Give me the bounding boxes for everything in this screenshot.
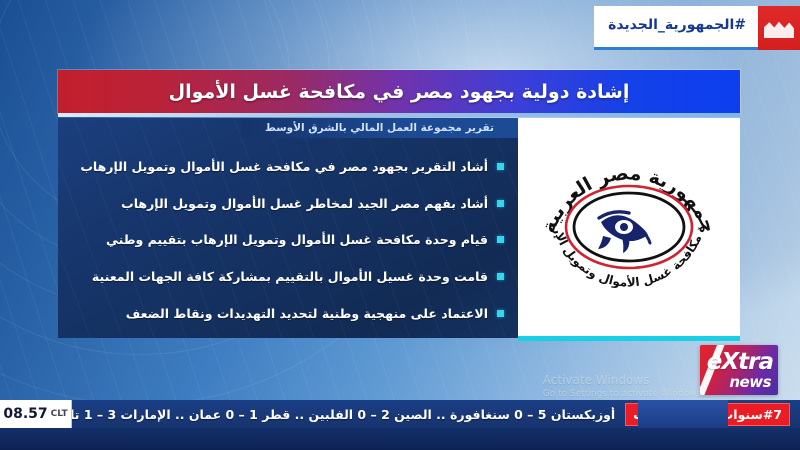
list-item: قيام وحدة مكافحة غسل الأموال وتمويل الإر… bbox=[68, 232, 504, 247]
bottom-band-accent bbox=[638, 400, 728, 428]
bullet-square-icon bbox=[497, 163, 504, 170]
bottom-band bbox=[0, 428, 800, 450]
list-item-label: قيام وحدة مكافحة غسل الأموال وتمويل الإر… bbox=[106, 232, 488, 247]
windows-activation-watermark: Activate Windows Go to Settings to activ… bbox=[543, 372, 704, 400]
page-title: إشادة دولية بجهود مصر في مكافحة غسل الأم… bbox=[169, 81, 630, 103]
top-hashtag-banner: #الجمهورية_الجديدة bbox=[594, 6, 800, 50]
clock-timezone: CLT bbox=[51, 409, 68, 419]
extra-news-logo: eXtra news bbox=[700, 345, 778, 395]
bullet-list: أشاد التقرير بجهود مصر في مكافحة غسل الأ… bbox=[58, 140, 518, 338]
list-item-label: أشاد بفهم مصر الجيد لمخاطر غسل الأموال و… bbox=[121, 196, 488, 211]
headline-title-bar: إشادة دولية بجهود مصر في مكافحة غسل الأم… bbox=[58, 70, 740, 113]
bullets-panel: أشاد التقرير بجهود مصر في مكافحة غسل الأ… bbox=[58, 118, 518, 338]
money-laundering-unit-emblem: جمهورية مصر العربية وحدة مكافحة غسل الأم… bbox=[529, 130, 729, 326]
list-item-label: أشاد التقرير بجهود مصر في مكافحة غسل الأ… bbox=[80, 159, 488, 174]
cyan-accent-strip bbox=[518, 336, 740, 341]
logo-text-secondary: news bbox=[729, 373, 771, 391]
list-item: أشاد بفهم مصر الجيد لمخاطر غسل الأموال و… bbox=[68, 196, 504, 211]
eye-of-horus-icon bbox=[598, 212, 650, 253]
list-item: الاعتماد على منهجية وطنية لتحديد التهديد… bbox=[68, 306, 504, 321]
subtitle-bar: تقرير مجموعة العمل المالي بالشرق الأوسط bbox=[241, 118, 518, 138]
ticker-scores-text: أوزبكستان 5 – 0 سنغافورة .. الصين 2 – 0 … bbox=[0, 407, 615, 422]
bullet-square-icon bbox=[497, 310, 504, 317]
bullet-square-icon bbox=[497, 236, 504, 243]
title-underline bbox=[58, 113, 740, 117]
list-item: قامت وحدة غسيل الأموال بالتقييم بمشاركة … bbox=[68, 269, 504, 284]
logo-text-primary: eXtra bbox=[707, 349, 773, 375]
clock-time: 08.57 bbox=[3, 406, 47, 422]
subtitle-label: تقرير مجموعة العمل المالي بالشرق الأوسط bbox=[265, 122, 494, 134]
watermark-line-2: Go to Settings to activate Windows. bbox=[543, 388, 704, 400]
list-item-label: قامت وحدة غسيل الأموال بالتقييم بمشاركة … bbox=[92, 269, 488, 284]
clock-box: 08.57 CLT bbox=[0, 400, 72, 428]
emblem-panel: جمهورية مصر العربية وحدة مكافحة غسل الأم… bbox=[518, 118, 740, 338]
bullet-square-icon bbox=[497, 200, 504, 207]
top-hashtag-label: #الجمهورية_الجديدة bbox=[594, 6, 758, 50]
list-item: أشاد التقرير بجهود مصر في مكافحة غسل الأ… bbox=[68, 159, 504, 174]
channel-flag-icon bbox=[758, 6, 800, 50]
watermark-line-1: Activate Windows bbox=[543, 372, 704, 388]
list-item-label: الاعتماد على منهجية وطنية لتحديد التهديد… bbox=[126, 306, 488, 321]
bullet-square-icon bbox=[497, 273, 504, 280]
